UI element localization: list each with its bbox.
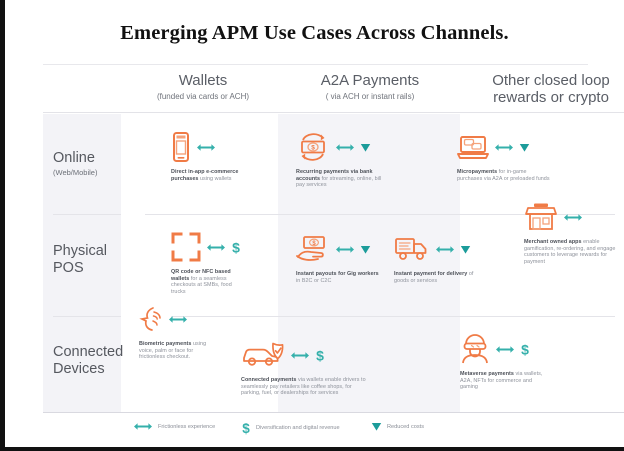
cell-caption-bold: Instant payment for delivery (394, 271, 467, 277)
frictionless-arrow-icon (335, 142, 355, 153)
cell-caption-rest: in B2C or C2C (296, 278, 331, 284)
row-title: Online (53, 150, 139, 167)
legend-item-diversification: $ Diversification and digital revenue (241, 421, 340, 435)
cell-caption: Direct in-app e-commerce purchases using… (171, 169, 243, 182)
slide-canvas: Emerging APM Use Cases Across Channels. … (5, 0, 624, 447)
frictionless-arrow-icon (168, 314, 188, 325)
mobile-phone-icon (171, 132, 191, 162)
reduced-costs-triangle-icon (519, 142, 530, 153)
row-divider (53, 214, 121, 215)
svg-text:$: $ (232, 240, 240, 255)
svg-text:$: $ (311, 145, 315, 152)
cell-caption: Recurring payments via bank accounts for… (296, 169, 382, 189)
icon-row (524, 198, 624, 236)
icon-row (171, 128, 243, 166)
row-divider (171, 316, 615, 317)
laptop-gaming-icon (457, 133, 489, 161)
revenue-dollar-icon: $ (241, 421, 251, 435)
frictionless-arrow-icon (133, 421, 153, 432)
cell-caption-bold: Instant payouts for Gig workers (296, 271, 379, 277)
cell-caption: Metaverse payments via wallets, A2A, NFT… (460, 371, 548, 391)
recurring-banknote-icon: $ (296, 132, 330, 162)
cell-caption: Merchant owned apps enable gamification,… (524, 239, 624, 265)
legend-item-reduced-costs: Reduced costs (371, 421, 424, 432)
column-header-wallets: Wallets (funded via cards or ACH) (133, 72, 273, 102)
row-title: Connected Devices (53, 344, 139, 378)
row-subtitle: (Web/Mobile) (53, 168, 139, 178)
column-header-a2a-payments: A2A Payments ( via ACH or instant rails) (295, 72, 445, 102)
column-title: A2A Payments (295, 72, 445, 90)
cell-online-a2a: $ Recurring payments via bank accounts f… (296, 128, 382, 189)
row-label-physical-pos: Physical POS (53, 243, 139, 277)
svg-text:$: $ (316, 348, 324, 363)
hand-cash-icon: $ (296, 235, 330, 263)
frictionless-arrow-icon (495, 344, 515, 355)
frictionless-arrow-icon (290, 350, 310, 361)
row-title: Physical POS (53, 243, 139, 277)
cell-caption-bold: Connected payments (241, 377, 296, 383)
qr-scan-icon (171, 232, 201, 262)
legend-label: Frictionless experience (158, 424, 215, 430)
column-header-other-closed-loop: Other closed loop rewards or crypto (475, 72, 624, 106)
reduced-costs-triangle-icon (360, 142, 371, 153)
title-divider (43, 64, 588, 65)
frictionless-arrow-icon (335, 244, 355, 255)
icon-row (394, 230, 482, 268)
frictionless-arrow-icon (494, 142, 514, 153)
cell-pos-gig-payouts: $ Instant payouts for Gig workers in B2C… (296, 230, 380, 284)
cell-caption-bold: Micropayments (457, 169, 497, 175)
storefront-icon (524, 202, 558, 232)
cell-caption-bold: Merchant owned apps (524, 239, 582, 245)
cell-pos-delivery: Instant payment for delivery of goods or… (394, 230, 482, 284)
row-divider (53, 316, 121, 317)
cell-connected-biometric: Biometric payments using voice, palm or … (139, 300, 219, 361)
revenue-dollar-icon: $ (231, 240, 241, 255)
revenue-dollar-icon: $ (520, 342, 530, 357)
column-subtitle: ( via ACH or instant rails) (295, 91, 445, 102)
icon-row (139, 300, 219, 338)
frictionless-arrow-icon (196, 142, 216, 153)
cell-online-closed-loop: Micropayments for in-game purchases via … (457, 128, 553, 182)
grid-bottom-divider (43, 412, 624, 413)
legend-label: Diversification and digital revenue (256, 425, 340, 431)
cell-connected-car: $ Connected payments via wallets enable … (241, 336, 367, 397)
cell-caption-bold: Metaverse payments (460, 371, 514, 377)
icon-row (457, 128, 553, 166)
legend-label: Reduced costs (387, 424, 424, 430)
row-label-online: Online (Web/Mobile) (53, 150, 139, 178)
cell-pos-wallets: $ QR code or NFC based wallets for a sea… (171, 228, 247, 295)
revenue-dollar-icon: $ (315, 348, 325, 363)
column-title: Wallets (133, 72, 273, 90)
svg-text:$: $ (521, 342, 529, 357)
cell-caption: Instant payment for delivery of goods or… (394, 271, 482, 284)
icon-row: $ (296, 230, 380, 268)
row-label-connected-devices: Connected Devices (53, 344, 139, 378)
voice-biometric-icon (139, 306, 163, 332)
frictionless-arrow-icon (435, 244, 455, 255)
cell-connected-metaverse: $ Metaverse payments via wallets, A2A, N… (460, 330, 548, 391)
frictionless-arrow-icon (206, 242, 226, 253)
icon-row: $ (241, 336, 367, 374)
icon-row: $ (460, 330, 548, 368)
column-subtitle: (funded via cards or ACH) (133, 91, 273, 102)
cell-online-wallets: Direct in-app e-commerce purchases using… (171, 128, 243, 182)
cell-caption: QR code or NFC based wallets for a seaml… (171, 269, 247, 295)
column-title: Other closed loop rewards or crypto (475, 72, 624, 106)
legend-item-frictionless: Frictionless experience (133, 421, 215, 432)
reduced-costs-triangle-icon (460, 244, 471, 255)
cell-caption: Instant payouts for Gig workers in B2C o… (296, 271, 380, 284)
frictionless-arrow-icon (563, 212, 583, 223)
icon-row: $ (171, 228, 247, 266)
vr-headset-person-icon (460, 334, 490, 364)
header-divider (43, 112, 624, 113)
reduced-costs-triangle-icon (371, 421, 382, 432)
cell-caption: Micropayments for in-game purchases via … (457, 169, 553, 182)
reduced-costs-triangle-icon (360, 244, 371, 255)
column-headers: Wallets (funded via cards or ACH) A2A Pa… (5, 72, 624, 114)
svg-text:$: $ (242, 421, 250, 435)
cell-caption: Biometric payments using voice, palm or … (139, 341, 219, 361)
legend: Frictionless experience $ Diversificatio… (133, 420, 603, 436)
icon-row: $ (296, 128, 382, 166)
cell-caption-bold: Biometric payments (139, 341, 191, 347)
delivery-truck-icon (394, 236, 430, 262)
page-title: Emerging APM Use Cases Across Channels. (5, 22, 624, 45)
connected-car-icon (241, 342, 285, 368)
cell-caption-rest: using wallets (198, 176, 231, 182)
cell-merchant-owned-apps: Merchant owned apps enable gamification,… (524, 198, 624, 265)
cell-caption: Connected payments via wallets enable dr… (241, 377, 367, 397)
